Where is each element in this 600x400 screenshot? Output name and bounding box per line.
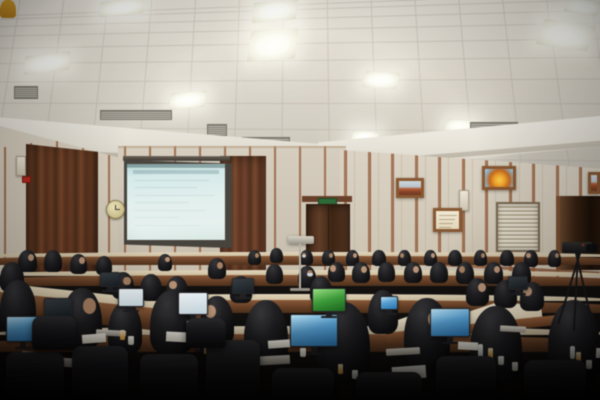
chair-3[interactable]	[140, 354, 198, 400]
seminar-hall-photo	[0, 0, 600, 400]
chair-5[interactable]	[272, 368, 334, 400]
foreground-chairs-group	[0, 0, 600, 400]
chair-2[interactable]	[72, 346, 128, 400]
chair-9[interactable]	[32, 316, 76, 350]
chair-7[interactable]	[436, 356, 496, 400]
chair-10[interactable]	[186, 318, 226, 348]
chair-6[interactable]	[356, 372, 422, 400]
chair-1[interactable]	[6, 352, 64, 400]
chair-4[interactable]	[206, 340, 260, 400]
chair-8[interactable]	[524, 360, 586, 400]
